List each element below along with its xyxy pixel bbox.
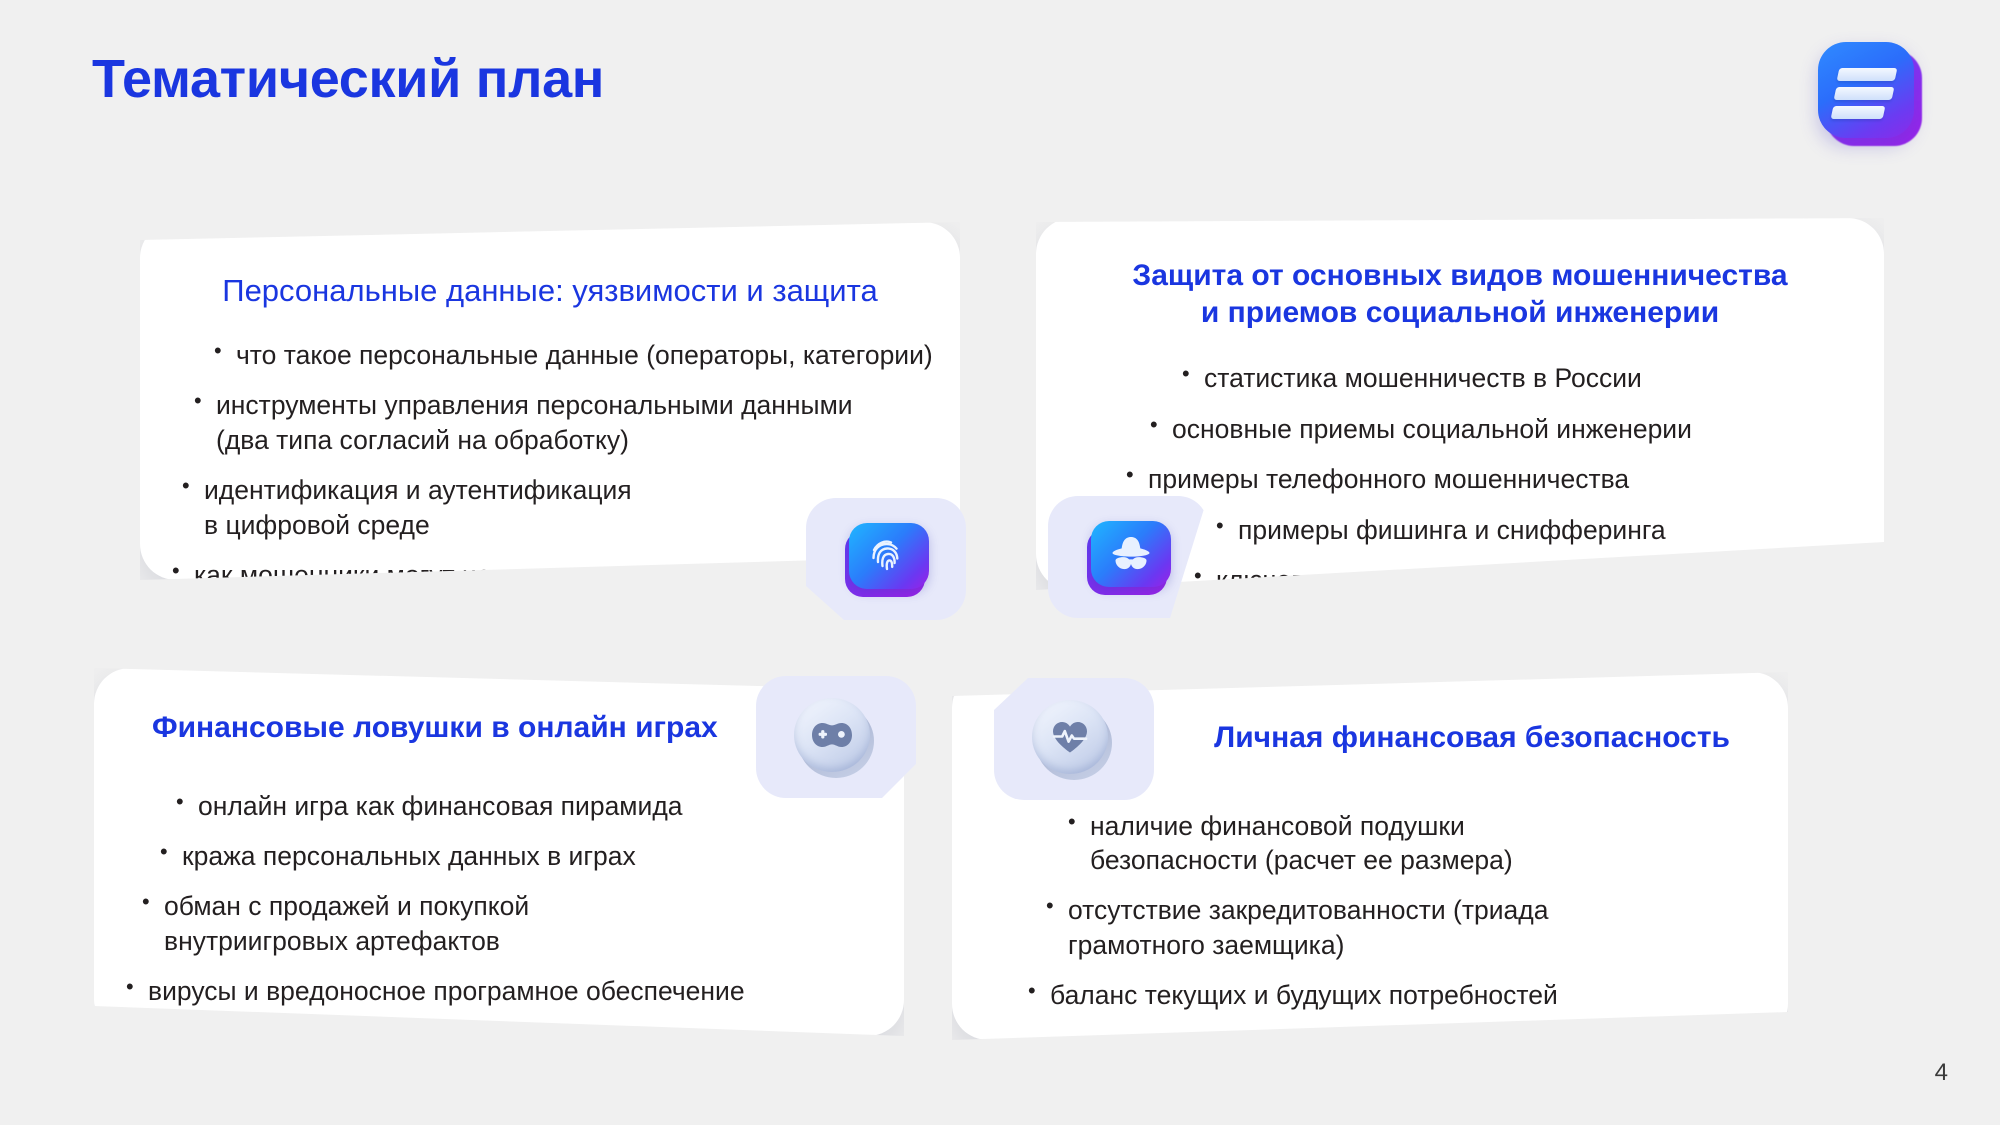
list-item: наличие финансовой подушки безопасности … [982, 809, 1758, 878]
list-item: отсутствие закредитованности (триада гра… [982, 893, 1758, 962]
spy-mask-icon [1085, 521, 1171, 593]
card-title-online-games: Финансовые ловушки в онлайн играх [120, 710, 864, 747]
list-item: кража персональных данных в играх [116, 839, 880, 873]
list-item: примеры телефонного мошенничества [1062, 462, 1854, 496]
slide-root: Тематический план Персональные данные: у… [0, 0, 2000, 1125]
bullet-list-online-games: онлайн игра как финансовая пирамида краж… [116, 789, 880, 1044]
page-title: Тематический план [92, 48, 604, 110]
icon-badge-spy-mask [1048, 496, 1208, 618]
card-title-personal-data: Персональные данные: уязвимости и защита [170, 272, 930, 310]
list-item: статистика мошенничеств в России [1062, 361, 1854, 395]
logo-bar-top [1837, 68, 1898, 81]
gamepad-icon [790, 694, 882, 780]
stacked-bars-logo-icon [1812, 32, 1932, 144]
tile-face [849, 523, 929, 589]
list-item: инструменты управления персональными дан… [162, 388, 936, 457]
card-title-fraud-protection: Защита от основных видов мошенничества и… [1072, 258, 1848, 331]
logo-bar-middle [1834, 87, 1895, 100]
logo-bar-bottom [1831, 106, 1886, 119]
icon-badge-heartbeat [994, 678, 1154, 800]
coin-face [1032, 700, 1108, 774]
tile-face [1091, 521, 1171, 587]
list-item: обман с продажей и покупкой внутриигровы… [116, 889, 880, 958]
heartbeat-icon [1028, 696, 1120, 782]
coin-face [794, 698, 870, 772]
icon-badge-fingerprint [806, 498, 966, 620]
list-item: основные приемы социальной инженерии [1062, 412, 1854, 446]
logo-tile [1818, 42, 1914, 138]
list-item: что такое персональные данные (операторы… [162, 338, 936, 372]
list-item: вирусы и вредоносное програмное обеспече… [116, 974, 880, 1043]
fingerprint-icon [843, 523, 929, 595]
page-number: 4 [1935, 1059, 1948, 1087]
bullet-list-personal-financial-safety: наличие финансовой подушки безопасности … [982, 809, 1758, 1013]
list-item: баланс текущих и будущих потребностей [982, 978, 1758, 1012]
list-item: онлайн игра как финансовая пирамида [116, 789, 880, 823]
icon-badge-gamepad [756, 676, 916, 798]
